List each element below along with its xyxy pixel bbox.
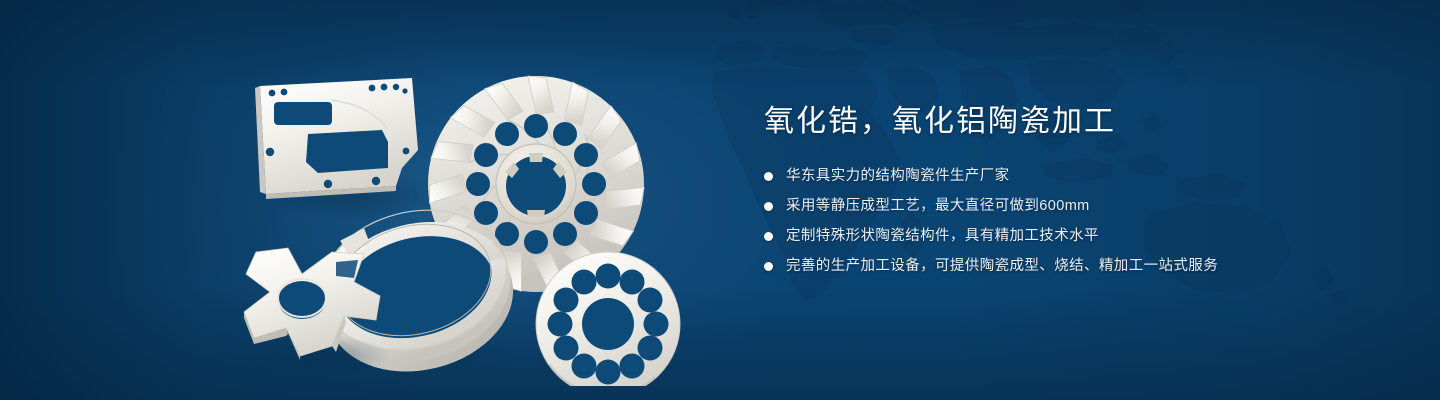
list-item: 完善的生产加工设备，可提供陶瓷成型、烧结、精加工一站式服务 — [764, 256, 1384, 277]
feature-text: 华东具实力的结构陶瓷件生产厂家 — [786, 166, 1010, 187]
bullet-dot-icon — [764, 172, 773, 181]
ceramic-product-banner: 氧化锆，氧化铝陶瓷加工 华东具实力的结构陶瓷件生产厂家 采用等静压成型工艺，最大… — [0, 0, 1440, 400]
feature-list: 华东具实力的结构陶瓷件生产厂家 采用等静压成型工艺，最大直径可做到600mm 定… — [764, 166, 1384, 277]
ceramic-products-image — [236, 34, 706, 386]
list-item: 华东具实力的结构陶瓷件生产厂家 — [764, 166, 1384, 187]
feature-text: 采用等静压成型工艺，最大直径可做到600mm — [786, 196, 1090, 217]
feature-text: 完善的生产加工设备，可提供陶瓷成型、烧结、精加工一站式服务 — [786, 256, 1218, 277]
feature-text: 定制特殊形状陶瓷结构件，具有精加工技术水平 — [786, 226, 1099, 247]
page-title: 氧化锆，氧化铝陶瓷加工 — [764, 104, 1384, 140]
list-item: 定制特殊形状陶瓷结构件，具有精加工技术水平 — [764, 226, 1384, 247]
bullet-dot-icon — [764, 262, 773, 271]
list-item: 采用等静压成型工艺，最大直径可做到600mm — [764, 196, 1384, 217]
bullet-dot-icon — [764, 232, 773, 241]
banner-copy: 氧化锆，氧化铝陶瓷加工 华东具实力的结构陶瓷件生产厂家 采用等静压成型工艺，最大… — [764, 104, 1384, 277]
bullet-dot-icon — [764, 202, 773, 211]
